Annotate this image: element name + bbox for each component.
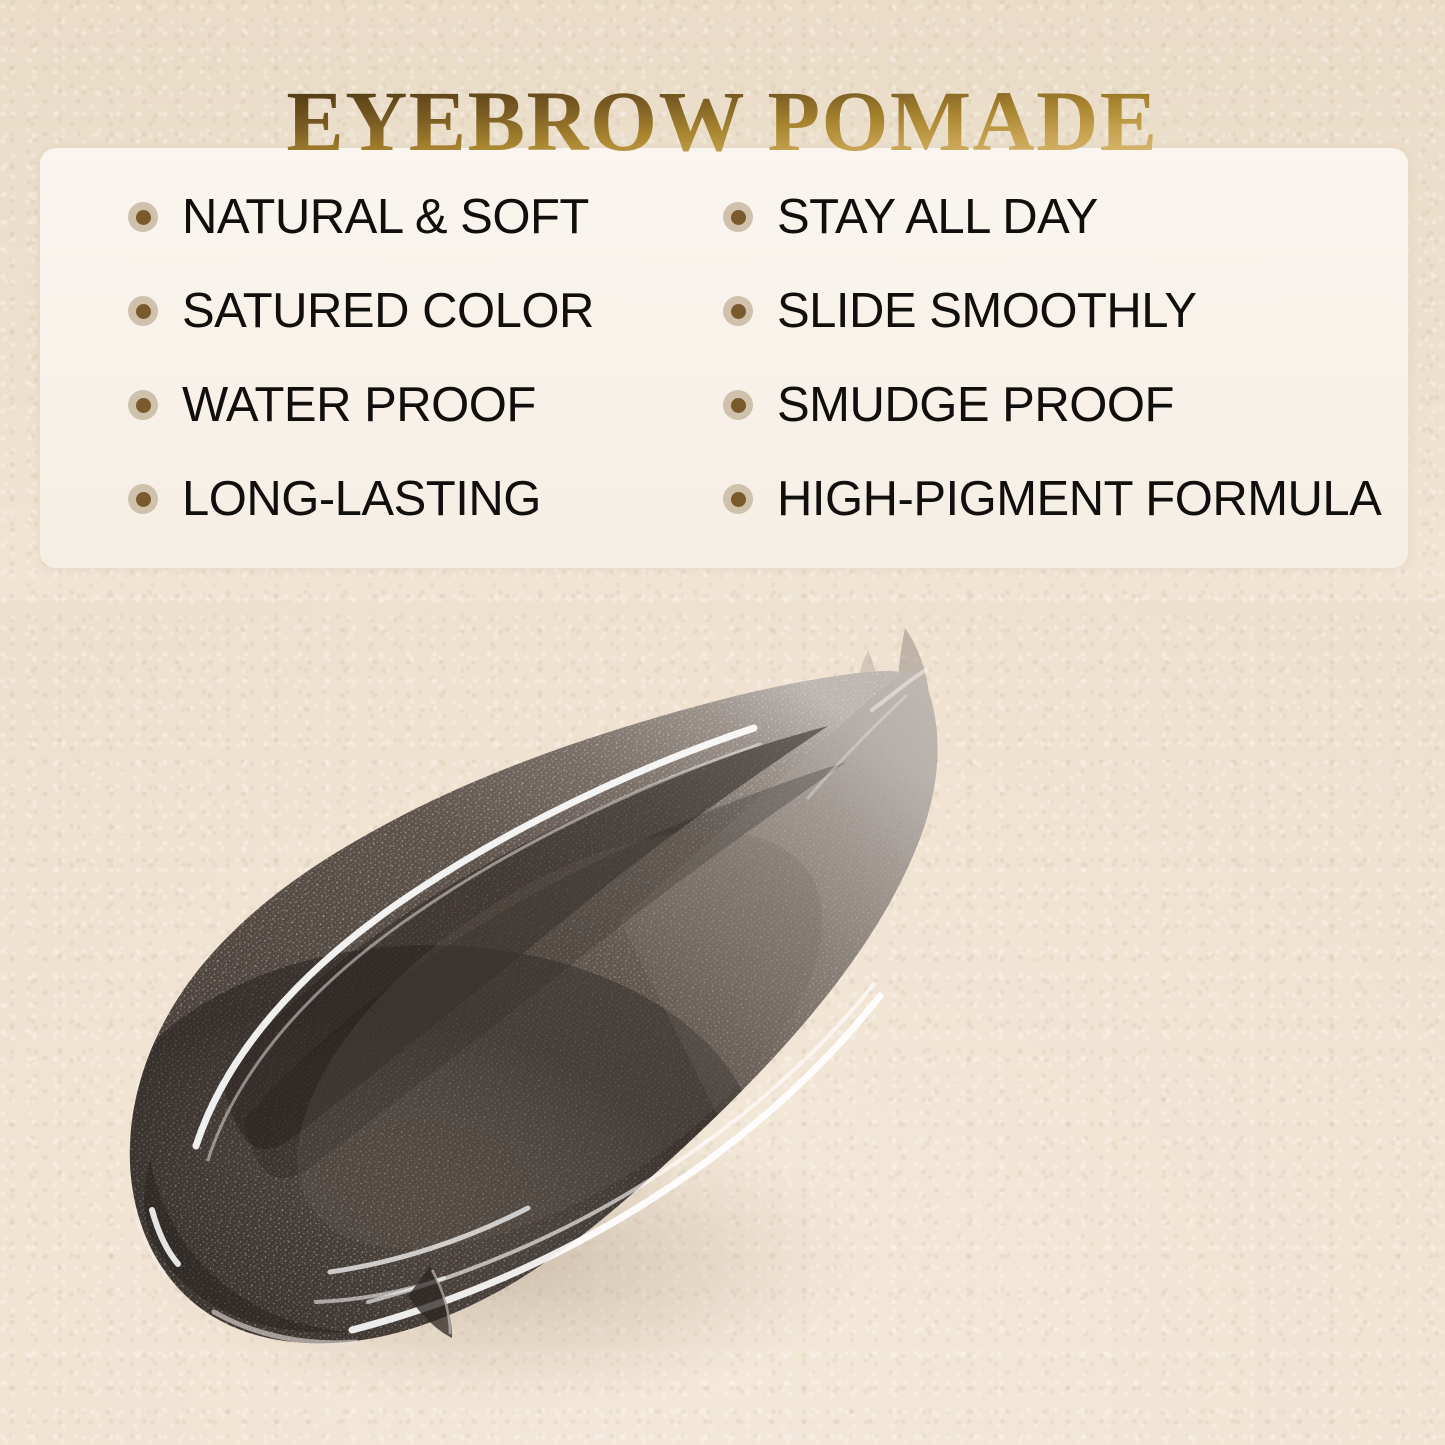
feature-label: LONG-LASTING: [182, 475, 541, 524]
bullet-dot-icon: [723, 390, 753, 420]
title-container: EYEBROW POMADE: [0, 18, 1445, 224]
feature-item-high-pigment-formula: HIGH-PIGMENT FORMULA: [723, 475, 1408, 524]
feature-label: SMUDGE PROOF: [777, 381, 1174, 430]
product-swatch-area: [0, 560, 1445, 1445]
feature-item-water-proof: WATER PROOF: [128, 381, 723, 430]
feature-label: SLIDE SMOOTHLY: [777, 287, 1197, 336]
feature-item-long-lasting: LONG-LASTING: [128, 475, 723, 524]
feature-label: WATER PROOF: [182, 381, 536, 430]
product-feature-poster: EYEBROW POMADE NATURAL & SOFT STAY ALL D…: [0, 0, 1445, 1445]
feature-label: SATURED COLOR: [182, 287, 594, 336]
feature-item-satured-color: SATURED COLOR: [128, 287, 723, 336]
bullet-dot-icon: [128, 484, 158, 514]
eyebrow-pomade-smear-swatch: [0, 560, 1445, 1445]
feature-item-smudge-proof: SMUDGE PROOF: [723, 381, 1408, 430]
bullet-dot-icon: [128, 390, 158, 420]
feature-label: HIGH-PIGMENT FORMULA: [777, 475, 1381, 524]
feature-item-slide-smoothly: SLIDE SMOOTHLY: [723, 287, 1408, 336]
bullet-dot-icon: [128, 296, 158, 326]
bullet-dot-icon: [723, 296, 753, 326]
bullet-dot-icon: [723, 484, 753, 514]
page-title: EYEBROW POMADE: [286, 76, 1158, 166]
